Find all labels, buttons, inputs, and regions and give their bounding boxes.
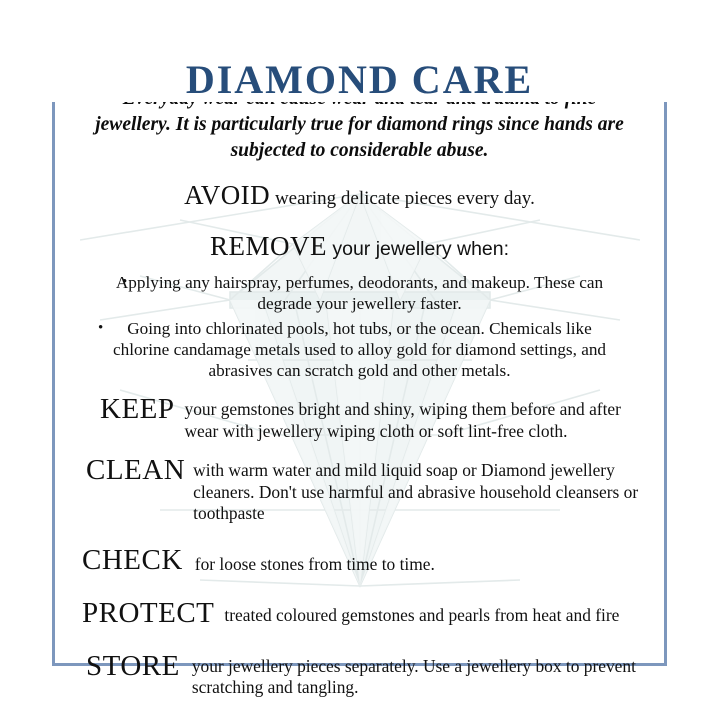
lead-keyword-remove: REMOVE bbox=[210, 231, 327, 261]
tip-keyword-keep: KEEP bbox=[78, 394, 175, 425]
page-title-text: DIAMOND CARE bbox=[176, 58, 543, 102]
tip-row-store: STORE your jewellery pieces separately. … bbox=[78, 651, 641, 699]
tip-row-clean: CLEAN with warm water and mild liquid so… bbox=[78, 455, 641, 525]
tip-text-store: your jewellery pieces separately. Use a … bbox=[180, 651, 641, 699]
poster-content: DIAMOND CARE Everyday wear can cause wea… bbox=[52, 62, 667, 699]
tip-row-protect: PROTECT treated coloured gemstones and p… bbox=[78, 598, 641, 629]
list-item-text: Going into chlorinated pools, hot tubs, … bbox=[113, 319, 606, 380]
lead-line-avoid: AVOID wearing delicate pieces every day. bbox=[62, 180, 657, 215]
lead-line-remove: REMOVE your jewellery when: bbox=[62, 231, 657, 266]
tip-keyword-check: CHECK bbox=[78, 545, 183, 576]
bullet-dot-icon: • bbox=[98, 318, 103, 339]
tip-row-keep: KEEP your gemstones bright and shiny, wi… bbox=[78, 394, 641, 442]
list-item-text: Applying any hairspray, perfumes, deodor… bbox=[116, 273, 603, 313]
list-item: • Applying any hairspray, perfumes, deod… bbox=[84, 272, 635, 314]
lead-text-remove: your jewellery when: bbox=[327, 238, 509, 260]
tip-keyword-clean: CLEAN bbox=[78, 455, 185, 486]
tip-text-check: for loose stones from time to time. bbox=[183, 545, 641, 576]
tip-text-clean: with warm water and mild liquid soap or … bbox=[185, 455, 641, 525]
page-title: DIAMOND CARE bbox=[52, 58, 667, 102]
lead-keyword-avoid: AVOID bbox=[184, 180, 270, 210]
tip-keyword-protect: PROTECT bbox=[78, 598, 214, 629]
diamond-care-poster: DIAMOND CARE Everyday wear can cause wea… bbox=[52, 62, 667, 666]
lead-text-avoid: wearing delicate pieces every day. bbox=[270, 188, 535, 209]
tip-text-protect: treated coloured gemstones and pearls fr… bbox=[214, 598, 641, 627]
tip-text-keep: your gemstones bright and shiny, wiping … bbox=[175, 394, 642, 442]
list-item: • Going into chlorinated pools, hot tubs… bbox=[84, 318, 635, 381]
tip-row-check: CHECK for loose stones from time to time… bbox=[78, 545, 641, 576]
remove-bullet-list: • Applying any hairspray, perfumes, deod… bbox=[84, 272, 635, 381]
bullet-dot-icon: • bbox=[122, 272, 127, 293]
tip-keyword-store: STORE bbox=[78, 651, 180, 682]
